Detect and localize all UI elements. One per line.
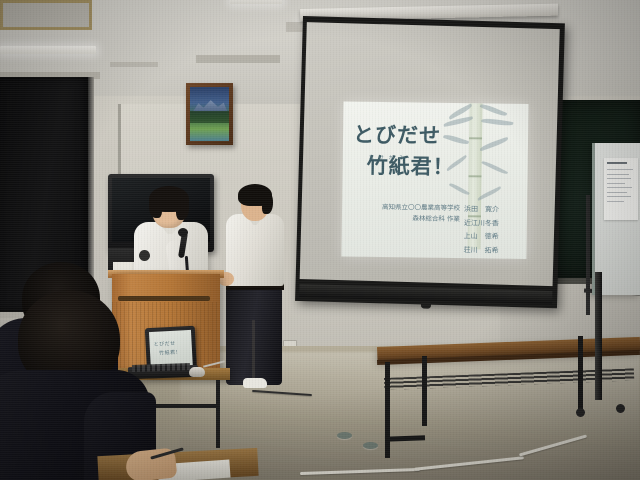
- posted-handout: [604, 158, 638, 220]
- table-leg: [422, 356, 427, 426]
- microphone-head: [178, 228, 188, 237]
- slide-title-ruby: たけがみ: [369, 154, 409, 162]
- bamboo-leaf-icon: [480, 102, 508, 117]
- floor-outlet[interactable]: [337, 432, 352, 439]
- slide-title-line-1: とびだせ: [353, 122, 473, 150]
- ceiling-beam: [196, 55, 280, 63]
- floor-outlet[interactable]: [363, 442, 378, 449]
- ceiling-panel: [0, 0, 92, 30]
- presenter-1-badge: [139, 250, 150, 261]
- table-leg: [216, 380, 220, 448]
- framed-picture: [186, 83, 233, 145]
- screen-bottom-bar: [299, 284, 552, 304]
- presenter-1-hair-side: [176, 196, 189, 220]
- slide-presenter-names: 浜田 寛介 近江川冬香 上山 徳希 荘川 拓希: [463, 203, 499, 258]
- presenter-name: 上山 徳希: [464, 230, 499, 244]
- bamboo-leaf-icon: [481, 159, 508, 175]
- slide-title-block: とびだせ 竹紙君！: [352, 122, 473, 181]
- projection-screen[interactable]: とびだせ 竹紙君！ たけがみ 高知県立〇〇農業高等学校 森林総合科 作業 浜田 …: [295, 16, 565, 308]
- screen-pull-handle[interactable]: [421, 302, 431, 308]
- laptop-slide-line-2: 竹紙君！: [159, 348, 181, 356]
- presenter-1-hair-side: [149, 196, 162, 218]
- ceiling-light: [0, 46, 96, 54]
- presenter-2-leg-gap: [252, 320, 255, 384]
- support-pole: [595, 272, 602, 400]
- presenter-name: 近江川冬香: [464, 217, 499, 231]
- bamboo-leaf-icon: [481, 117, 513, 127]
- painting-treeline: [190, 111, 229, 123]
- presentation-room-photo: とびだせ 竹紙君！ たけがみ 高知県立〇〇農業高等学校 森林総合科 作業 浜田 …: [0, 0, 640, 480]
- table-leg: [578, 336, 583, 410]
- slide-credit-block: 高知県立〇〇農業高等学校 森林総合科 作業: [362, 202, 460, 225]
- presenter-name: 荘川 拓希: [463, 244, 498, 258]
- table-leg: [385, 362, 390, 458]
- computer-mouse[interactable]: [189, 367, 205, 377]
- projected-slide: とびだせ 竹紙君！ たけがみ 高知県立〇〇農業高等学校 森林総合科 作業 浜田 …: [341, 101, 528, 259]
- table-caster: [616, 404, 625, 413]
- slide-credit-line-2: 森林総合科 作業: [362, 212, 460, 224]
- presenter-2-shoe: [243, 378, 267, 388]
- painting-canvas: [190, 87, 229, 141]
- presenter-name: 浜田 寛介: [464, 203, 499, 217]
- podium-groove: [118, 296, 210, 301]
- ceiling-light: [230, 0, 282, 4]
- screen-surface: とびだせ 竹紙君！ たけがみ 高知県立〇〇農業高等学校 森林総合科 作業 浜田 …: [300, 22, 560, 286]
- handout-heading: [607, 162, 627, 164]
- presenter-2-hair-side: [262, 192, 273, 214]
- bamboo-leaf-icon: [479, 137, 509, 152]
- table-caster: [576, 408, 585, 417]
- laptop-slide-line-1: とびだせ: [153, 340, 175, 348]
- bamboo-leaf-icon: [449, 182, 470, 197]
- whiteboard-easel-leg: [586, 195, 590, 315]
- ceiling-beam: [110, 62, 158, 67]
